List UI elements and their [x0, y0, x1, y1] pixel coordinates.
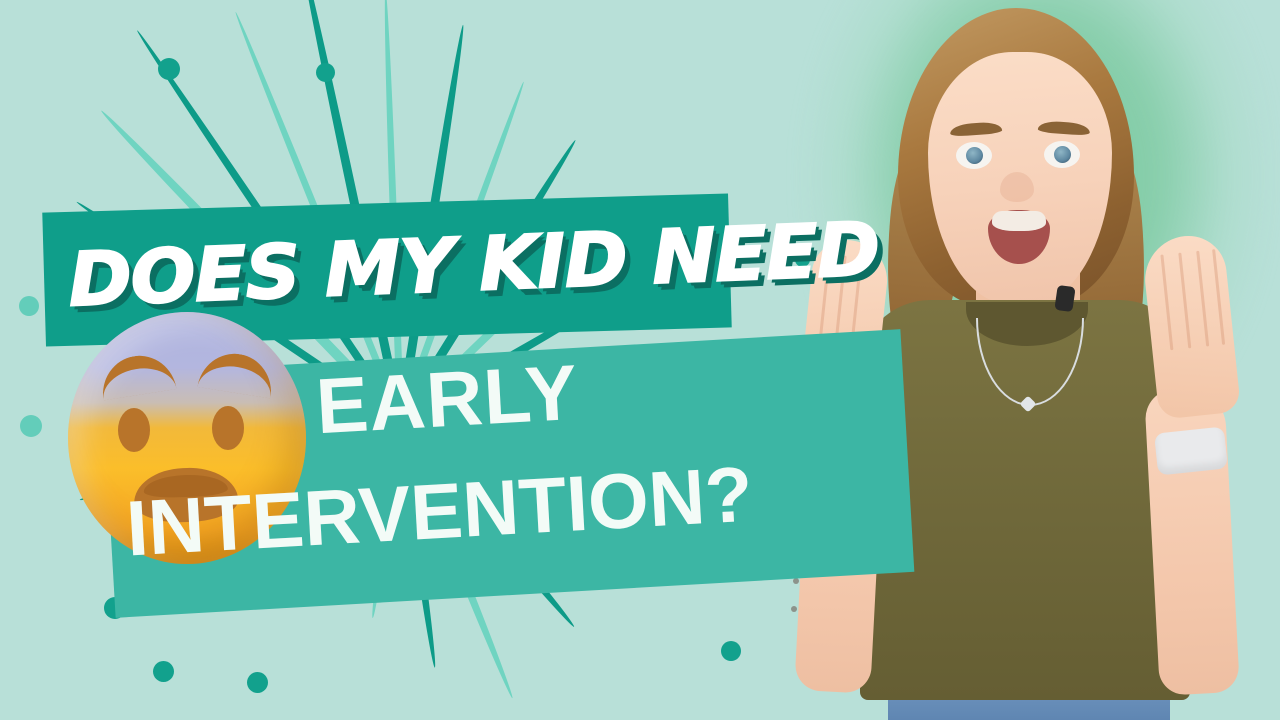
confetti-dot — [20, 415, 42, 437]
headline-line-2: EARLY — [314, 353, 580, 446]
smartwatch — [1154, 426, 1228, 475]
emoji-eye-right — [212, 406, 244, 450]
confetti-dot — [247, 672, 268, 693]
confetti-dot — [19, 296, 39, 316]
confetti-dot — [721, 641, 741, 661]
confetti-dot — [158, 58, 180, 80]
teeth — [992, 211, 1046, 231]
finger-crease — [1212, 249, 1225, 345]
emoji-eye-left — [118, 408, 150, 452]
iris-left — [966, 147, 983, 164]
tattoo-dot — [791, 606, 797, 612]
emoji-eyebrow-right — [197, 348, 276, 398]
finger-crease — [1196, 251, 1209, 347]
tattoo-dot — [793, 578, 799, 584]
nose — [1000, 172, 1034, 202]
confetti-dot — [153, 661, 174, 682]
hand-right — [1141, 232, 1241, 420]
thumbnail-canvas: DOES MY KID NEED EARLY INTERVENTION? — [0, 0, 1280, 720]
microphone-icon — [1054, 285, 1075, 312]
confetti-dot — [316, 63, 335, 82]
emoji-eyebrow-left — [97, 350, 176, 400]
finger-crease — [1178, 253, 1191, 349]
finger-crease — [1160, 254, 1173, 350]
iris-right — [1054, 146, 1071, 163]
